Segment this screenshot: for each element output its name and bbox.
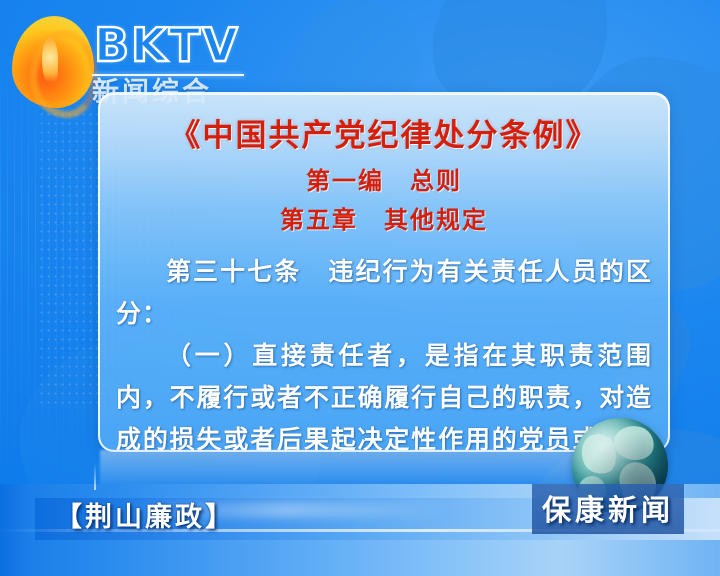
ticker-label: 【荆山廉政】 [55, 495, 235, 534]
panel-subtitle-2: 第五章 其他规定 [100, 200, 668, 235]
logo-divider [92, 74, 244, 76]
broadcast-screen: BKTV 新闻综合 《中国共产党纪律处分条例》 第一编 总则 第五章 其他规定 … [0, 0, 720, 576]
channel-call-sign: BKTV [94, 22, 240, 68]
body-paragraph: （一）直接责任者，是指在其职责范围内，不履行或者不正确履行自己的职责，对造成的损… [116, 335, 652, 452]
flame-inner-icon [30, 30, 98, 118]
flame-logo-icon [12, 16, 94, 108]
panel-title: 《中国共产党纪律处分条例》 [100, 110, 668, 155]
program-name-badge: 保康新闻 [532, 484, 684, 534]
corner-accent-line [94, 464, 96, 490]
content-panel: 《中国共产党纪律处分条例》 第一编 总则 第五章 其他规定 第三十七条 违纪行为… [98, 92, 670, 452]
panel-body: 第三十七条 违纪行为有关责任人员的区分： （一）直接责任者，是指在其职责范围内，… [116, 251, 652, 452]
panel-subtitle-1: 第一编 总则 [100, 161, 668, 196]
body-paragraph: 第三十七条 违纪行为有关责任人员的区分： [116, 251, 652, 335]
